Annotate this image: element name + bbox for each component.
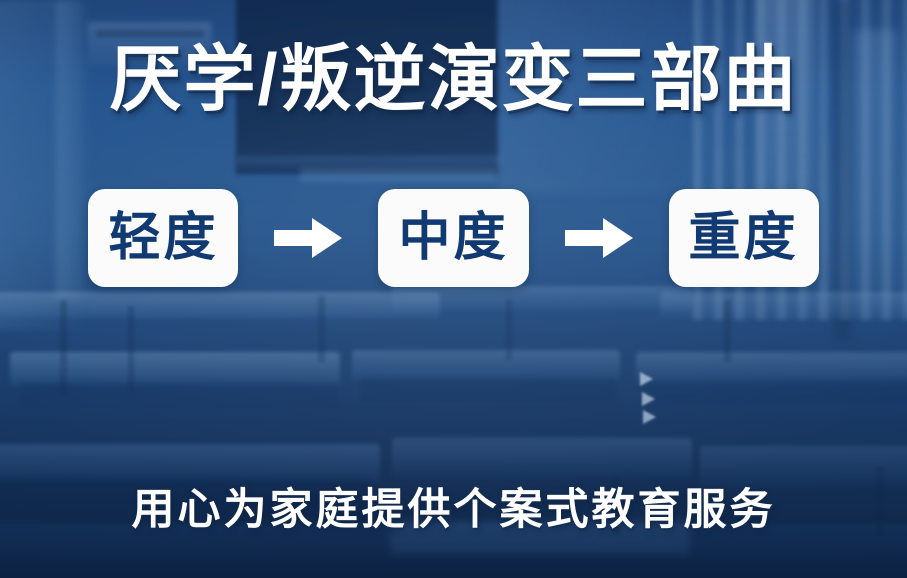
severity-pill-moderate-label: 中度 xyxy=(398,212,508,264)
severity-pill-mild-label: 轻度 xyxy=(108,212,218,264)
severity-progression-row: 轻度 中度 重度 xyxy=(0,188,907,288)
poster-content: 厌学/叛逆演变三部曲 轻度 中度 重度 用心为家庭提供个案式教育服务 xyxy=(0,0,907,578)
severity-pill-severe-label: 重度 xyxy=(689,212,799,264)
poster-tagline: 用心为家庭提供个案式教育服务 xyxy=(0,489,907,532)
poster-headline: 厌学/叛逆演变三部曲 xyxy=(0,44,907,116)
severity-pill-severe[interactable]: 重度 xyxy=(669,189,819,287)
severity-pill-mild[interactable]: 轻度 xyxy=(88,189,238,287)
arrow-right-icon xyxy=(563,214,635,262)
poster-canvas: 厌学/叛逆演变三部曲 轻度 中度 重度 用心为家庭提供个案式教育服务 xyxy=(0,0,907,578)
severity-pill-moderate[interactable]: 中度 xyxy=(378,189,528,287)
arrow-right-icon xyxy=(272,214,344,262)
